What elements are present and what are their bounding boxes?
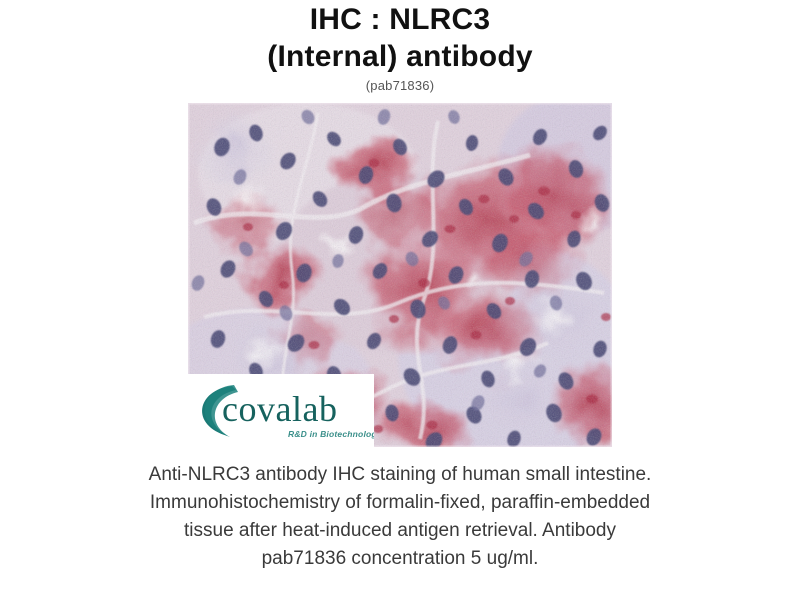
covalab-wordmark: covalab [222, 389, 337, 429]
caption-line-4: pab71836 concentration 5 ug/ml. [70, 545, 730, 573]
covalab-tagline: R&D in Biotechnology [288, 429, 374, 439]
ihc-micrograph-figure: covalab R&D in Biotechnology [188, 103, 612, 447]
covalab-logo-plate: covalab R&D in Biotechnology [188, 374, 374, 447]
product-image-card: IHC : NLRC3 (Internal) antibody (pab7183… [0, 0, 800, 600]
caption-line-2: Immunohistochemistry of formalin-fixed, … [70, 489, 730, 517]
caption-line-1: Anti-NLRC3 antibody IHC staining of huma… [70, 461, 730, 489]
covalab-logo: covalab R&D in Biotechnology [188, 374, 374, 447]
title-block: IHC : NLRC3 (Internal) antibody (pab7183… [0, 0, 800, 95]
caption-line-3: tissue after heat-induced antigen retrie… [70, 517, 730, 545]
page-title-line-1: IHC : NLRC3 [0, 2, 800, 39]
catalog-number-subtitle: (pab71836) [0, 78, 800, 95]
page-title-line-2: (Internal) antibody [0, 39, 800, 76]
figure-caption: Anti-NLRC3 antibody IHC staining of huma… [70, 461, 730, 573]
